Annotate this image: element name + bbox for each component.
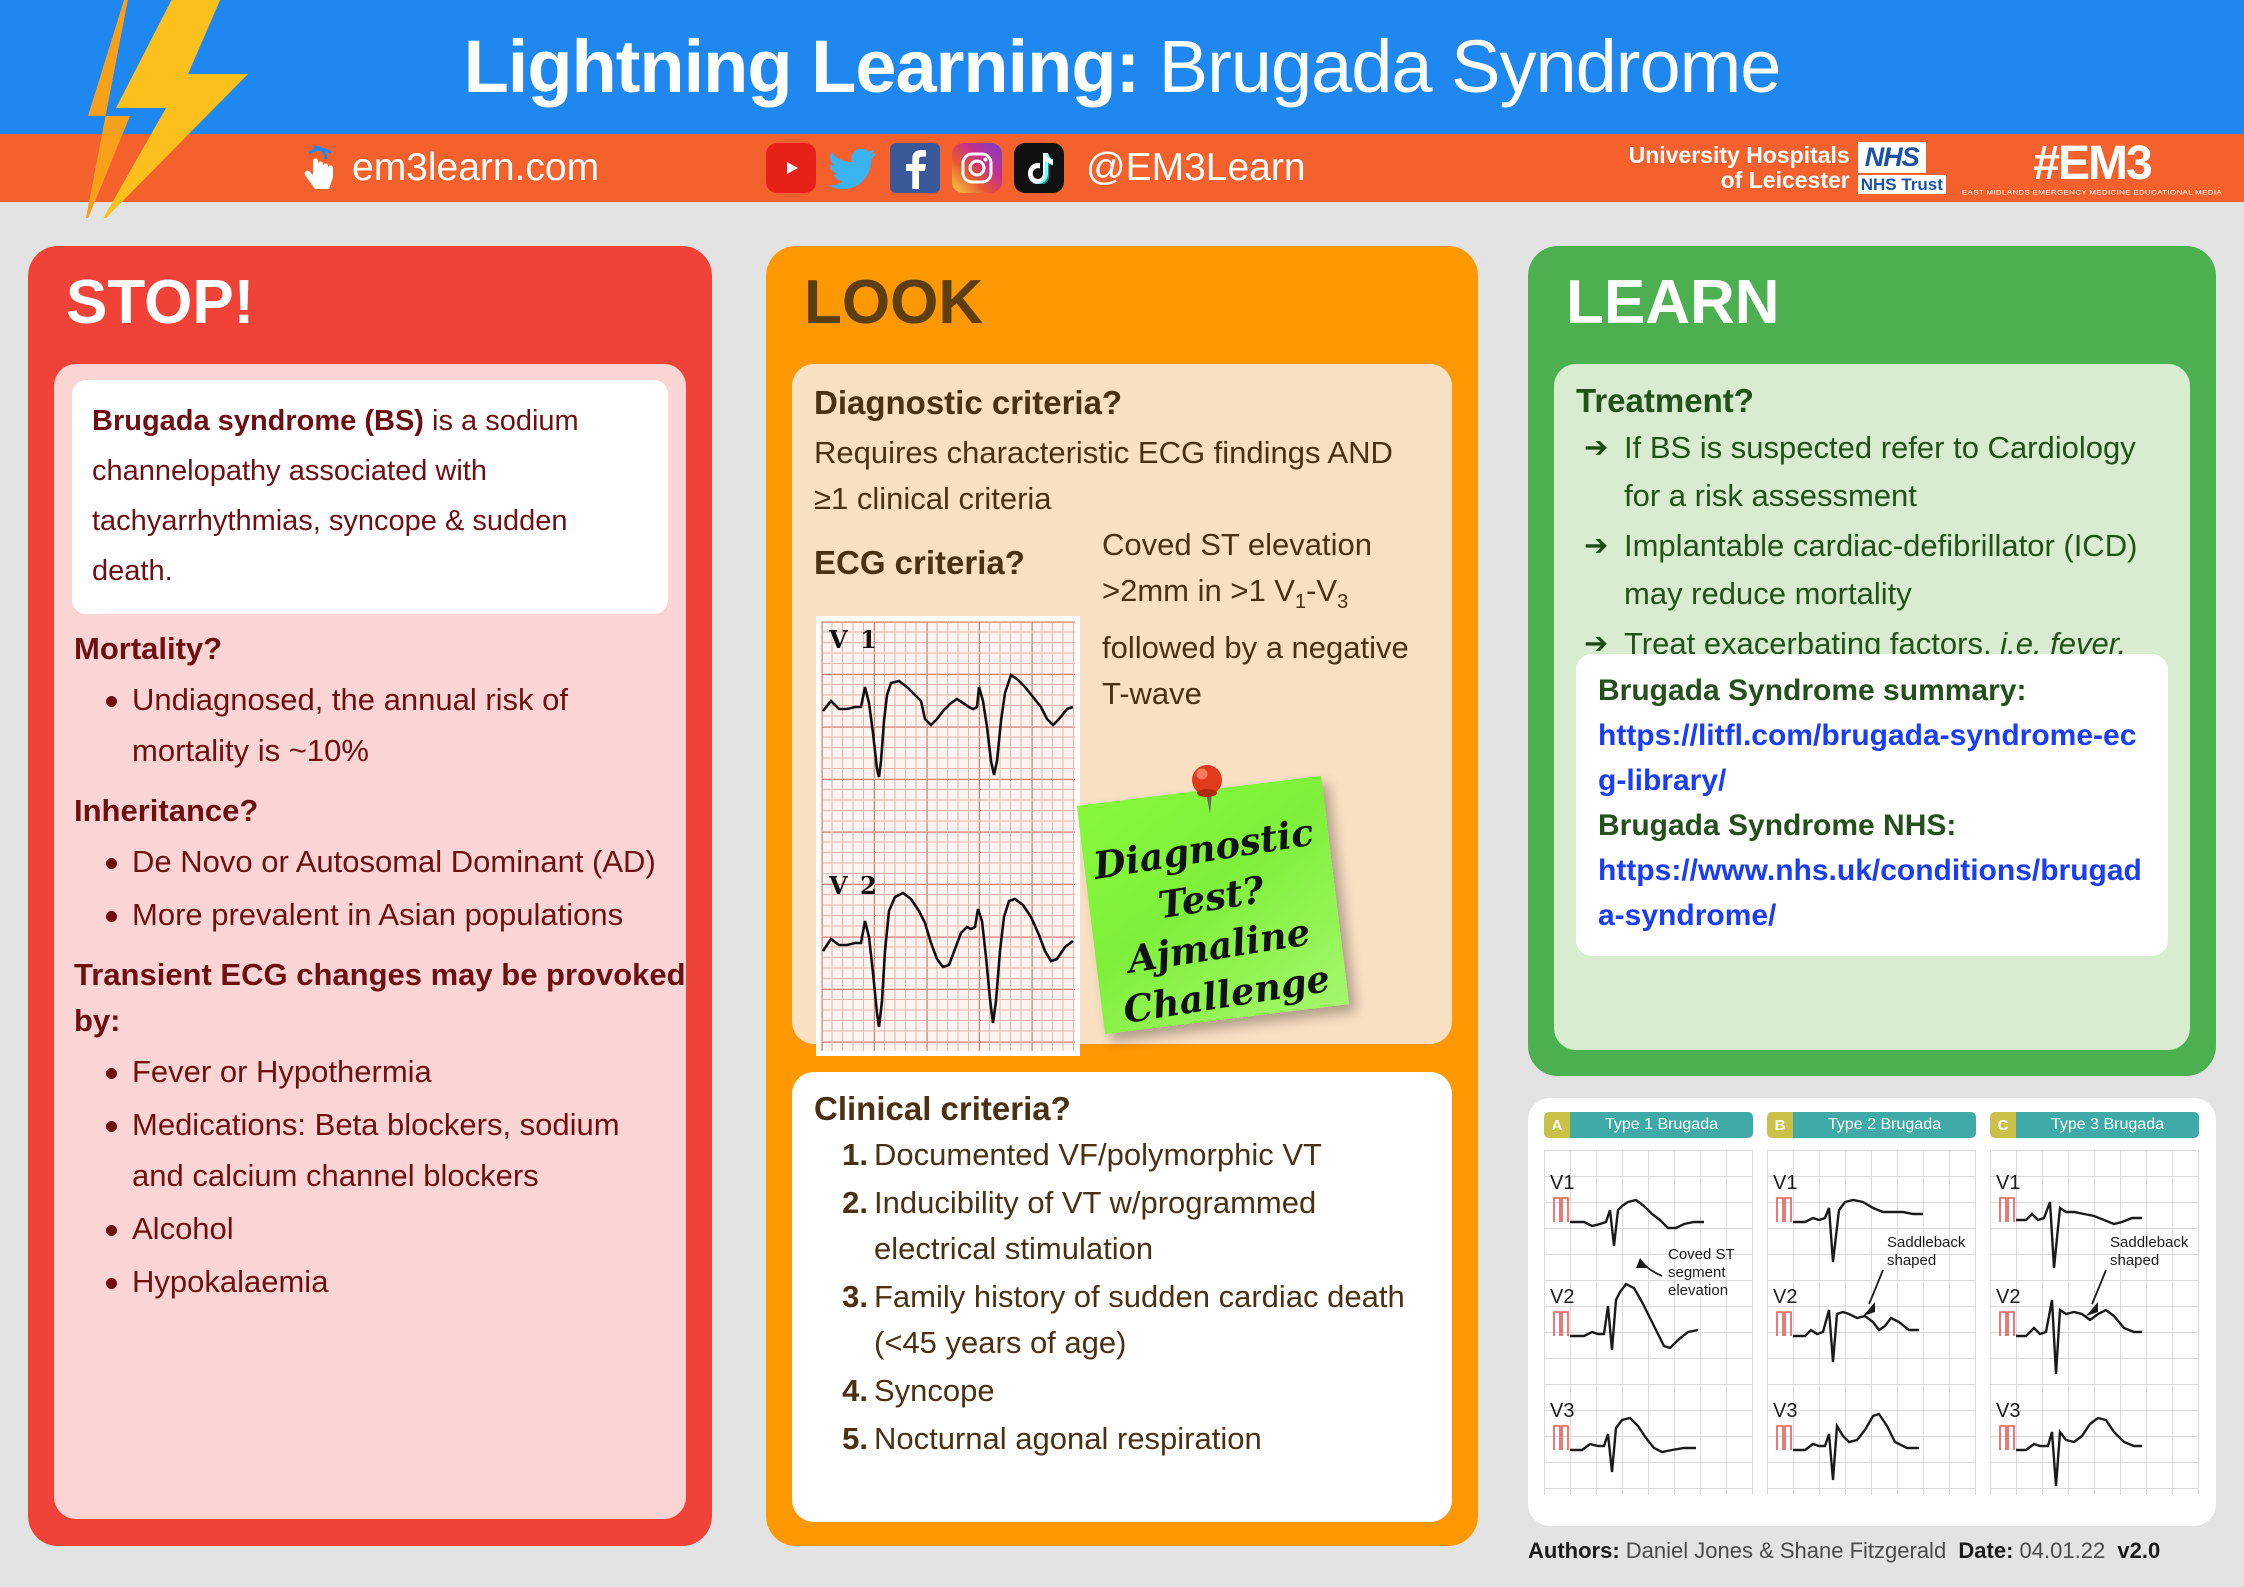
- type1-ecg-trace: V1 V2 V3 Coved ST segment elevation: [1544, 1150, 1753, 1495]
- youtube-icon[interactable]: [766, 143, 816, 193]
- date-label: Date:: [1958, 1538, 2013, 1563]
- list-item: If BS is suspected refer to Cardiology f…: [1624, 424, 2170, 520]
- list-item: Syncope: [874, 1368, 1430, 1414]
- coved-text-part3: followed by a negative T-wave: [1102, 630, 1409, 711]
- page-title-bold: Lightning Learning:: [464, 25, 1140, 108]
- em3-tag: #EM3: [2033, 140, 2150, 188]
- list-item: Medications: Beta blockers, sodium and c…: [132, 1099, 664, 1201]
- list-item: More prevalent in Asian populations: [132, 889, 664, 940]
- type-header: A Type 1 Brugada: [1544, 1112, 1753, 1138]
- list-item: Alcohol: [132, 1203, 664, 1254]
- em3-subtitle: EAST MIDLANDS EMERGENCY MEDICINE EDUCATI…: [1962, 188, 2222, 196]
- version-value: v2.0: [2117, 1538, 2160, 1563]
- facebook-icon[interactable]: [890, 143, 940, 193]
- type-name-label: Type 1 Brugada: [1570, 1112, 1753, 1138]
- list-item: De Novo or Autosomal Dominant (AD): [132, 836, 664, 887]
- website-label: em3learn.com: [352, 146, 599, 190]
- brugada-definition: Brugada syndrome (BS) is a sodium channe…: [72, 380, 668, 614]
- ecg-grid: V 1 V 2: [821, 621, 1075, 1051]
- type1-annotation: Coved ST segment elevation: [1668, 1246, 1735, 1300]
- mortality-heading: Mortality?: [74, 626, 686, 672]
- type-header: B Type 2 Brugada: [1767, 1112, 1976, 1138]
- page-title: Lightning Learning: Brugada Syndrome: [0, 4, 2244, 130]
- type-name-label: Type 3 Brugada: [2016, 1112, 2199, 1138]
- page-title-rest: Brugada Syndrome: [1139, 25, 1780, 108]
- clinical-criteria-box: Clinical criteria? Documented VF/polymor…: [792, 1072, 1452, 1522]
- brugada-type-column: C Type 3 Brugada V1 V2 V3: [1990, 1112, 2199, 1495]
- list-item: Hypokalaemia: [132, 1256, 664, 1307]
- coved-sub2: 3: [1337, 591, 1348, 613]
- brugada-type-column: A Type 1 Brugada V1 V2 V3: [1544, 1112, 1753, 1495]
- uhl-logo: University Hospitals of Leicester NHS NH…: [1629, 142, 1946, 194]
- resource-link[interactable]: https://litfl.com/brugada-syndrome-ecg-l…: [1598, 713, 2146, 803]
- authors-label: Authors:: [1528, 1538, 1620, 1563]
- type-letter-badge: C: [1990, 1112, 2016, 1138]
- diagnostic-criteria-heading: Diagnostic criteria?: [814, 382, 1452, 424]
- inheritance-list: De Novo or Autosomal Dominant (AD) More …: [98, 836, 686, 940]
- pushpin-icon: [1184, 762, 1230, 818]
- diagnostic-criteria-text: Requires characteristic ECG findings AND…: [814, 430, 1422, 522]
- stop-panel-title: STOP!: [66, 272, 254, 334]
- clinical-criteria-list: Documented VF/polymorphic VT Inducibilit…: [792, 1132, 1452, 1462]
- sticky-note-text: Diagnostic Test? Ajmaline Challenge: [1078, 806, 1352, 1038]
- stop-panel-body: Brugada syndrome (BS) is a sodium channe…: [54, 364, 686, 1519]
- ecg-strip-image: V 1 V 2: [816, 616, 1080, 1056]
- tap-cursor-icon: [300, 145, 338, 191]
- list-item: Family history of sudden cardiac death (…: [874, 1274, 1430, 1366]
- definition-term: Brugada syndrome (BS): [92, 405, 424, 437]
- type2-ecg-trace: V1 V2 V3 Saddleback shaped: [1767, 1150, 1976, 1495]
- type2-annotation: Saddleback shaped: [1887, 1234, 1965, 1270]
- learn-panel-body: Treatment? If BS is suspected refer to C…: [1554, 364, 2190, 1050]
- transient-list: Fever or Hypothermia Medications: Beta b…: [98, 1046, 686, 1307]
- mortality-list: Undiagnosed, the annual risk of mortalit…: [98, 674, 686, 776]
- footer-credits: Authors: Daniel Jones & Shane Fitzgerald…: [1528, 1538, 2228, 1564]
- look-panel-title: LOOK: [804, 272, 983, 334]
- lightning-bolt-icon: [38, 0, 258, 218]
- type-letter-badge: B: [1767, 1112, 1793, 1138]
- list-item: Documented VF/polymorphic VT: [874, 1132, 1430, 1178]
- nhs-logo: NHS: [1858, 142, 1926, 173]
- type3-annotation: Saddleback shaped: [2110, 1234, 2188, 1270]
- brugada-type-column: B Type 2 Brugada V1 V2 V3: [1767, 1112, 1976, 1495]
- brugada-types-row: A Type 1 Brugada V1 V2 V3: [1544, 1112, 2200, 1495]
- coved-sub1: 1: [1295, 591, 1306, 613]
- social-handle: @EM3Learn: [1086, 146, 1306, 190]
- em3-logo: #EM3 EAST MIDLANDS EMERGENCY MEDICINE ED…: [1962, 140, 2222, 197]
- instagram-icon[interactable]: [952, 143, 1002, 193]
- clinical-criteria-heading: Clinical criteria?: [814, 1090, 1452, 1128]
- authors-value: Daniel Jones & Shane Fitzgerald: [1620, 1538, 1947, 1563]
- type-letter-badge: A: [1544, 1112, 1570, 1138]
- coved-st-description: Coved ST elevation >2mm in >1 V1-V3 foll…: [1102, 522, 1432, 717]
- list-item: Undiagnosed, the annual risk of mortalit…: [132, 674, 664, 776]
- brugada-types-figure: A Type 1 Brugada V1 V2 V3: [1528, 1098, 2216, 1526]
- type-name-label: Type 2 Brugada: [1793, 1112, 1976, 1138]
- nhs-branding: University Hospitals of Leicester NHS NH…: [1629, 134, 2222, 202]
- inheritance-heading: Inheritance?: [74, 788, 686, 834]
- link-label: Brugada Syndrome NHS:: [1598, 803, 2146, 848]
- list-item: Fever or Hypothermia: [132, 1046, 664, 1097]
- coved-text-part2: -V: [1306, 573, 1337, 608]
- stop-panel: STOP! Brugada syndrome (BS) is a sodium …: [28, 246, 712, 1546]
- link-label: Brugada Syndrome summary:: [1598, 668, 2146, 713]
- treatment-heading: Treatment?: [1576, 382, 2190, 420]
- uhl-line1: University Hospitals: [1629, 143, 1850, 168]
- type-header: C Type 3 Brugada: [1990, 1112, 2199, 1138]
- transient-heading: Transient ECG changes may be provoked by…: [74, 952, 686, 1044]
- uhl-line2: of Leicester: [1629, 168, 1850, 193]
- date-value: 04.01.22: [2013, 1538, 2105, 1563]
- learn-panel-title: LEARN: [1566, 272, 1780, 334]
- resource-link[interactable]: https://www.nhs.uk/conditions/brugada-sy…: [1598, 848, 2146, 938]
- twitter-icon[interactable]: [828, 143, 878, 193]
- resource-links-box: Brugada Syndrome summary: https://litfl.…: [1576, 654, 2168, 956]
- social-links: @EM3Learn: [766, 134, 1306, 202]
- list-item: Implantable cardiac-defibrillator (ICD) …: [1624, 522, 2170, 618]
- website-link[interactable]: em3learn.com: [300, 134, 599, 202]
- list-item: Inducibility of VT w/programmed electric…: [874, 1180, 1430, 1272]
- tiktok-icon[interactable]: [1014, 143, 1064, 193]
- list-item: Nocturnal agonal respiration: [874, 1416, 1430, 1462]
- learn-panel: LEARN Treatment? If BS is suspected refe…: [1528, 246, 2216, 1076]
- nhs-trust-label: NHS Trust: [1858, 175, 1946, 194]
- type3-ecg-trace: V1 V2 V3 Saddleback shaped: [1990, 1150, 2199, 1495]
